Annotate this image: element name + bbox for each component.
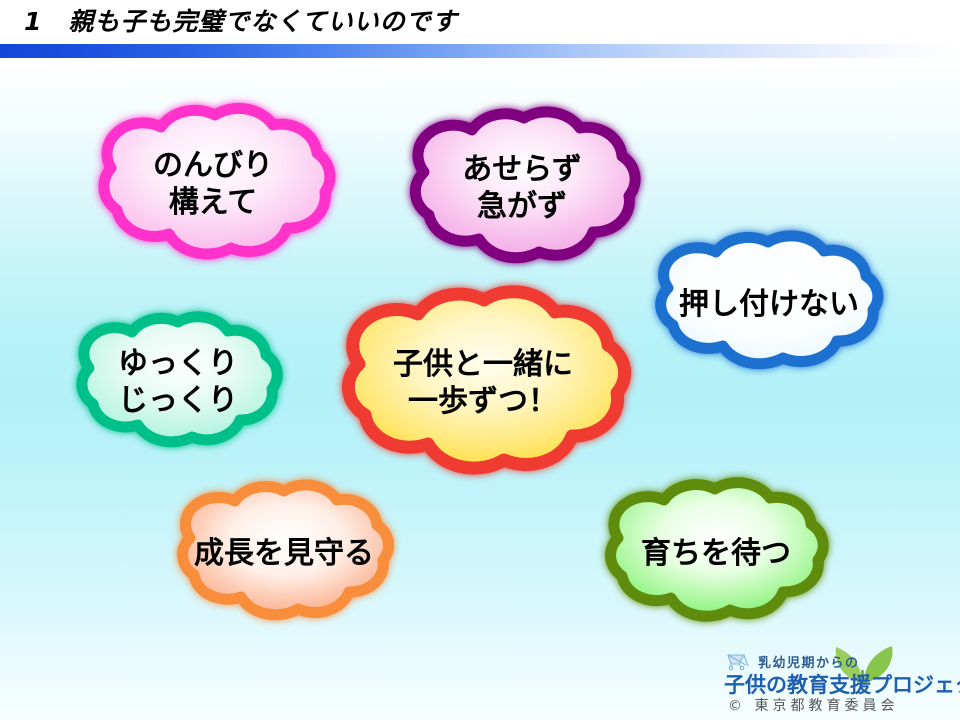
cloud-aserazu-shape <box>372 94 672 284</box>
cloud-aserazu[interactable]: あせらず 急がず <box>372 94 672 284</box>
cloud-kodomo-issho[interactable]: 子供と一緒に 一歩ずつ！ <box>292 272 674 496</box>
cloud-kodomo-issho-shape <box>292 272 674 496</box>
title-accent-bar <box>0 44 960 58</box>
page-title: 1 親も子も完璧でなくていいのです <box>24 4 458 40</box>
cloud-nonbiri-shape <box>58 92 368 278</box>
slide-title-block: 1 親も子も完璧でなくていいのです <box>0 0 960 58</box>
project-logo: 乳幼児期からの 子供の教育支援プロジェクト © 東京都教育委員会 <box>718 648 956 718</box>
slide-canvas: 1 親も子も完璧でなくていいのです <box>0 0 960 720</box>
cloud-yukkuri[interactable]: ゆっくり じっくり <box>42 302 314 464</box>
stroller-icon <box>726 652 752 670</box>
cloud-nonbiri[interactable]: のんびり 構えて <box>58 92 368 278</box>
logo-copyright: © 東京都教育委員会 <box>728 695 898 715</box>
cloud-yukkuri-shape <box>42 302 314 464</box>
